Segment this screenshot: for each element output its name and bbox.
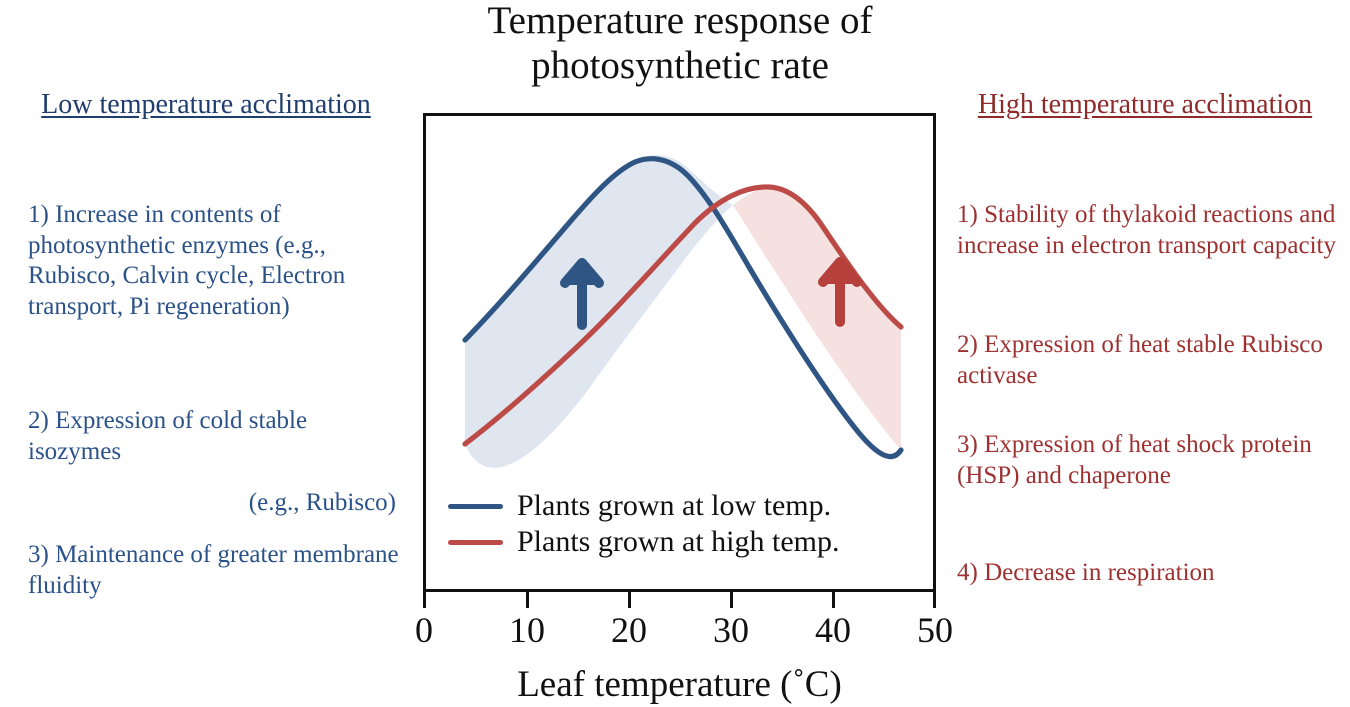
x-tick-20 [628, 592, 631, 608]
right-item-1: 1) Stability of thylakoid reactions and … [957, 200, 1337, 261]
x-tick-40 [832, 592, 835, 608]
x-tick-10 [526, 592, 529, 608]
x-tick-label-40: 40 [803, 612, 863, 648]
left-item-3: 3) Maintenance of greater membrane fluid… [28, 540, 403, 601]
right-item-4: 4) Decrease in respiration [957, 558, 1347, 589]
legend-swatch-high-temp [448, 540, 503, 545]
left-item-2-example: (e.g., Rubisco) [28, 488, 396, 519]
x-tick-label-10: 10 [497, 612, 557, 648]
x-tick-50 [933, 592, 936, 608]
x-tick-0 [423, 592, 426, 608]
left-column-heading: Low temperature acclimation [28, 88, 384, 122]
chart-legend: Plants grown at low temp. Plants grown a… [448, 488, 918, 560]
right-item-2: 2) Expression of heat stable Rubisco act… [957, 330, 1337, 391]
legend-row-high-temp: Plants grown at high temp. [448, 524, 918, 560]
page-title: Temperature response of photosynthetic r… [435, 0, 925, 88]
legend-label-high-temp: Plants grown at high temp. [517, 525, 839, 559]
legend-label-low-temp: Plants grown at low temp. [517, 489, 831, 523]
x-tick-30 [730, 592, 733, 608]
left-item-1: 1) Increase in contents of photosyntheti… [28, 200, 396, 322]
x-tick-label-20: 20 [599, 612, 659, 648]
figure-canvas: Temperature response of photosynthetic r… [0, 0, 1350, 707]
legend-row-low-temp: Plants grown at low temp. [448, 488, 918, 524]
right-item-3: 3) Expression of heat shock protein (HSP… [957, 430, 1337, 491]
legend-swatch-low-temp [448, 504, 503, 509]
x-axis-label: Leaf temperature (˚C) [423, 664, 936, 706]
high-temp-fill [733, 187, 901, 450]
low-temp-fill [465, 155, 733, 468]
x-tick-label-0: 0 [394, 612, 454, 648]
right-column-heading: High temperature acclimation [955, 88, 1335, 122]
x-tick-label-30: 30 [701, 612, 761, 648]
left-item-2: 2) Expression of cold stable isozymes [28, 406, 396, 467]
x-tick-label-50: 50 [905, 612, 965, 648]
